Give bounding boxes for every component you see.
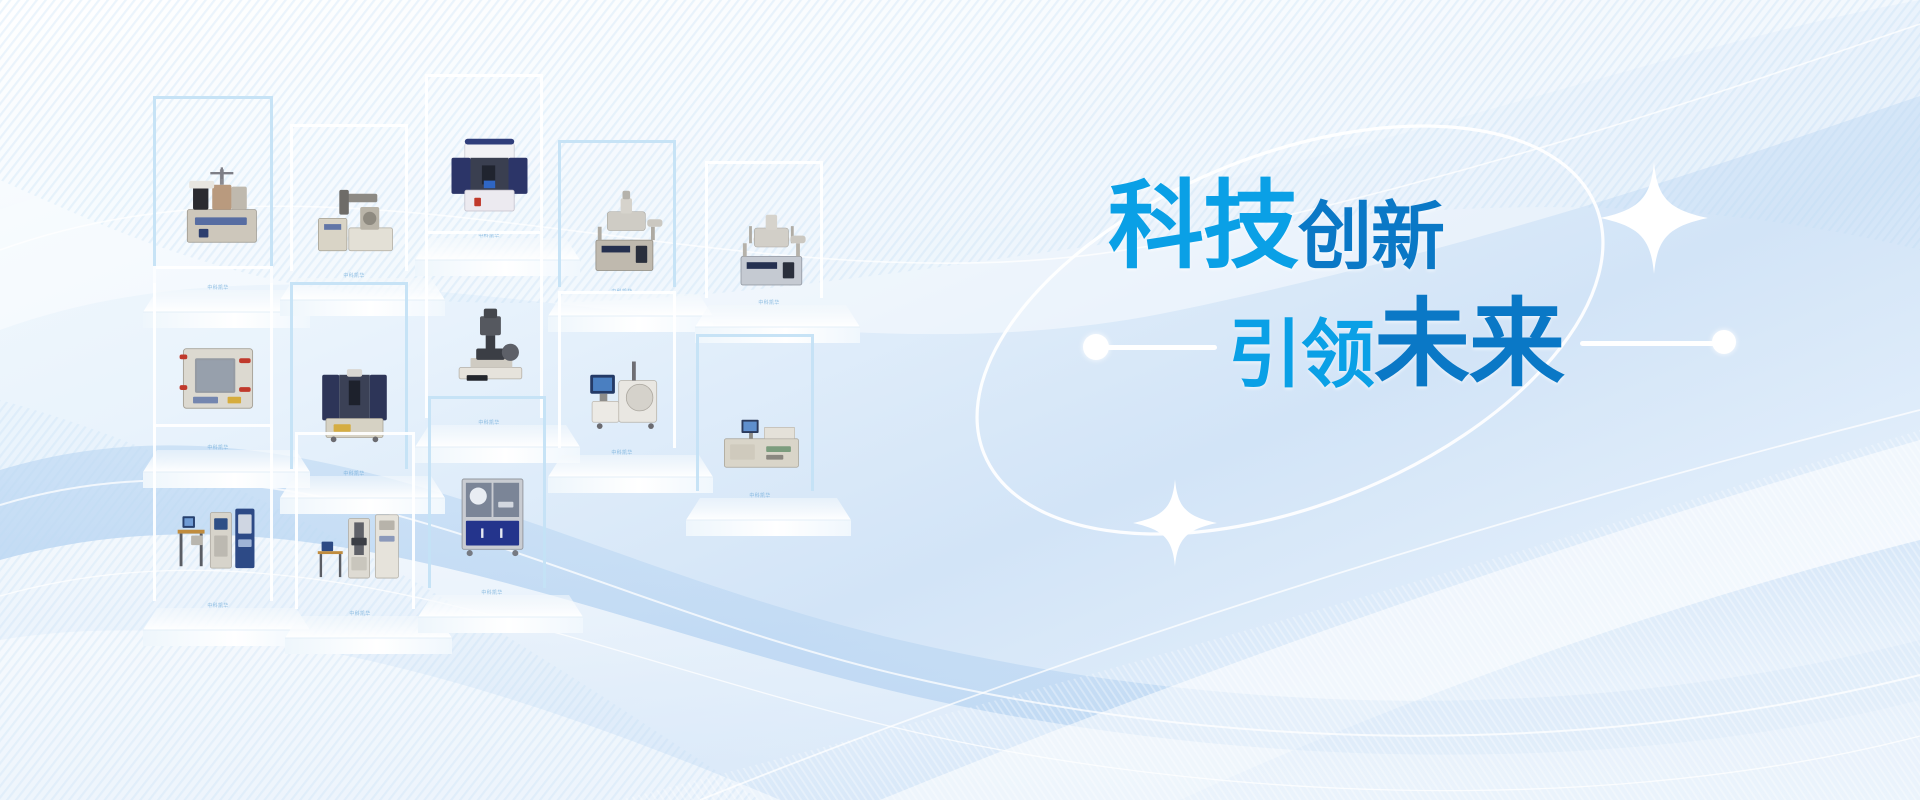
sparkle-mid-left-icon	[1133, 478, 1217, 568]
product-item-magnetron-sputtering-coater-b[interactable]: 中科凯华	[695, 157, 860, 349]
node-dot-right	[1712, 330, 1736, 354]
product-image-control-cabinet-system	[713, 374, 808, 492]
product-pedestal	[686, 498, 851, 536]
headline-block: 科技创新 引领未来	[1108, 178, 1668, 392]
product-item-control-cabinet-system[interactable]: 中科凯华	[686, 330, 851, 542]
product-image-lab-workstation-set	[170, 469, 266, 602]
product-image-universal-testing-machine	[312, 477, 408, 610]
node-dot-left	[1083, 334, 1109, 360]
headline-line-2-emphasis: 未来	[1374, 288, 1564, 400]
headline-line-2: 引领未来	[1228, 296, 1668, 392]
headline-line-1-rest: 创新	[1298, 194, 1444, 280]
product-image-magnetron-sputtering-coater-b	[722, 195, 817, 299]
product-image-nano-indentation-tester	[575, 331, 670, 449]
banner-stage: 科技创新 引领未来 中科凯华	[0, 0, 1920, 800]
headline-line-1: 科技创新	[1108, 178, 1668, 274]
product-item-enclosed-fatigue-test-cabinet[interactable]: 中科凯华	[418, 392, 583, 639]
product-pedestal	[418, 595, 583, 633]
product-image-micro-nano-scratch-tester	[307, 161, 402, 272]
product-image-magnetron-sputtering-coater-a	[575, 177, 670, 288]
product-image-multifunction-material-testing-machine	[442, 114, 537, 232]
headline-line-1-emphasis: 科技	[1108, 170, 1298, 282]
headline-line-2-lead: 引领	[1228, 312, 1374, 398]
product-image-enclosed-fatigue-test-cabinet	[445, 445, 540, 589]
